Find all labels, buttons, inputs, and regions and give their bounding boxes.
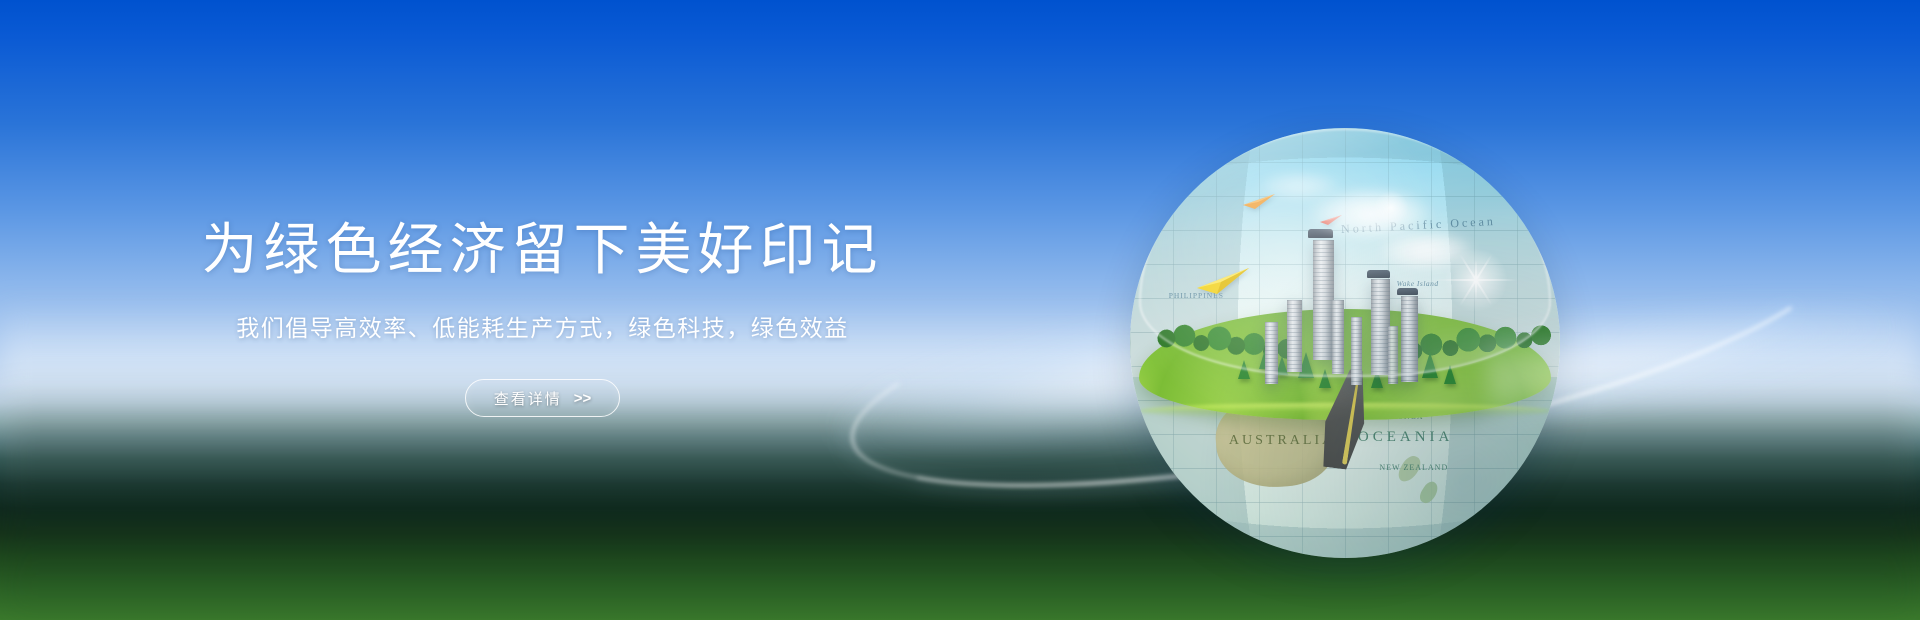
skyscraper-tallest bbox=[1313, 240, 1334, 360]
hero-banner: North Pacific Ocean AUSTRALIA OCEANIA NE… bbox=[0, 0, 1920, 620]
tree-icon bbox=[1422, 352, 1438, 378]
cloud-icon bbox=[1379, 231, 1475, 271]
skyscraper-left-a bbox=[1287, 300, 1302, 372]
tree-icon bbox=[1238, 360, 1250, 379]
tree-icon bbox=[1319, 369, 1331, 388]
map-label-wake-island: Wake Island bbox=[1397, 279, 1439, 288]
skyscraper-mid-a bbox=[1332, 300, 1344, 374]
cta-container: 查看详情 >> bbox=[0, 379, 1085, 417]
skyscraper-right-c bbox=[1388, 326, 1398, 384]
map-label-oceania: OCEANIA bbox=[1358, 429, 1454, 446]
cta-label: 查看详情 bbox=[494, 388, 562, 409]
yellow-paper-plane-icon bbox=[1195, 266, 1251, 296]
map-label-australia: AUSTRALIA bbox=[1229, 433, 1335, 449]
skyscraper-mid-b bbox=[1351, 317, 1362, 385]
map-label-new-zealand: NEW ZEALAND bbox=[1379, 463, 1448, 472]
skyscraper-left-b bbox=[1265, 322, 1278, 384]
skyscraper-roof-cap bbox=[1397, 288, 1418, 295]
globe-illustration: North Pacific Ocean AUSTRALIA OCEANIA NE… bbox=[1130, 128, 1560, 558]
skyscraper-right-a bbox=[1371, 279, 1390, 375]
tree-icon bbox=[1444, 365, 1456, 384]
skyscraper-right-b bbox=[1401, 296, 1418, 382]
page-subtitle: 我们倡导高效率、低能耗生产方式，绿色科技，绿色效益 bbox=[0, 309, 1085, 343]
chevron-right-double-icon: >> bbox=[574, 390, 592, 407]
cloud-icon bbox=[1259, 171, 1339, 201]
page-title: 为绿色经济留下美好印记 bbox=[0, 215, 1085, 285]
view-details-button[interactable]: 查看详情 >> bbox=[465, 379, 621, 417]
hero-copy-block: 为绿色经济留下美好印记 我们倡导高效率、低能耗生产方式，绿色科技，绿色效益 查看… bbox=[0, 215, 1085, 417]
